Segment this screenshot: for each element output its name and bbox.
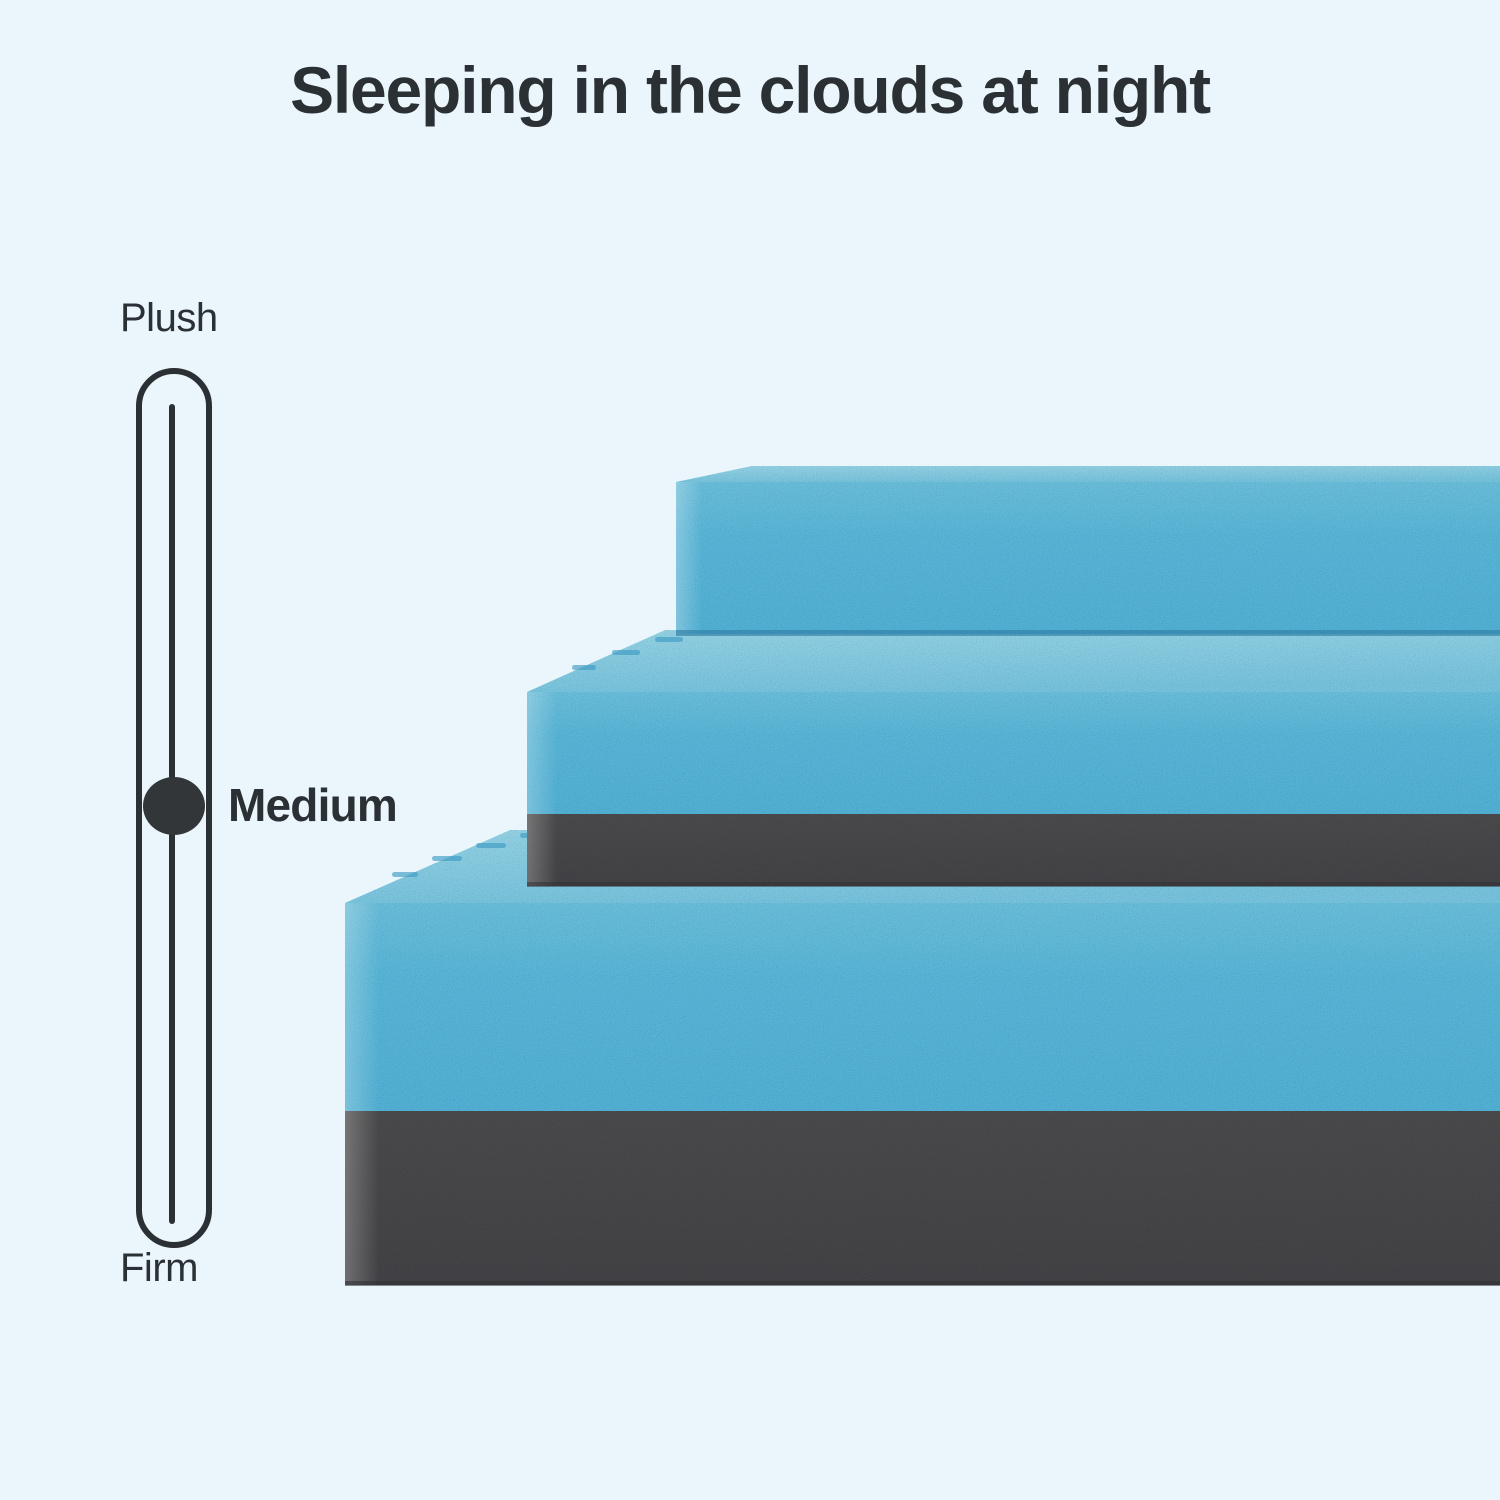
slider-label-firm: Firm [120, 1246, 198, 1291]
slider-value-label-medium: Medium [228, 778, 397, 832]
firmness-slider[interactable]: Plush Medium Firm [128, 296, 598, 1306]
slider-label-plush: Plush [120, 296, 218, 341]
slider-thumb[interactable] [143, 777, 205, 835]
page-title: Sleeping in the clouds at night [0, 52, 1500, 128]
